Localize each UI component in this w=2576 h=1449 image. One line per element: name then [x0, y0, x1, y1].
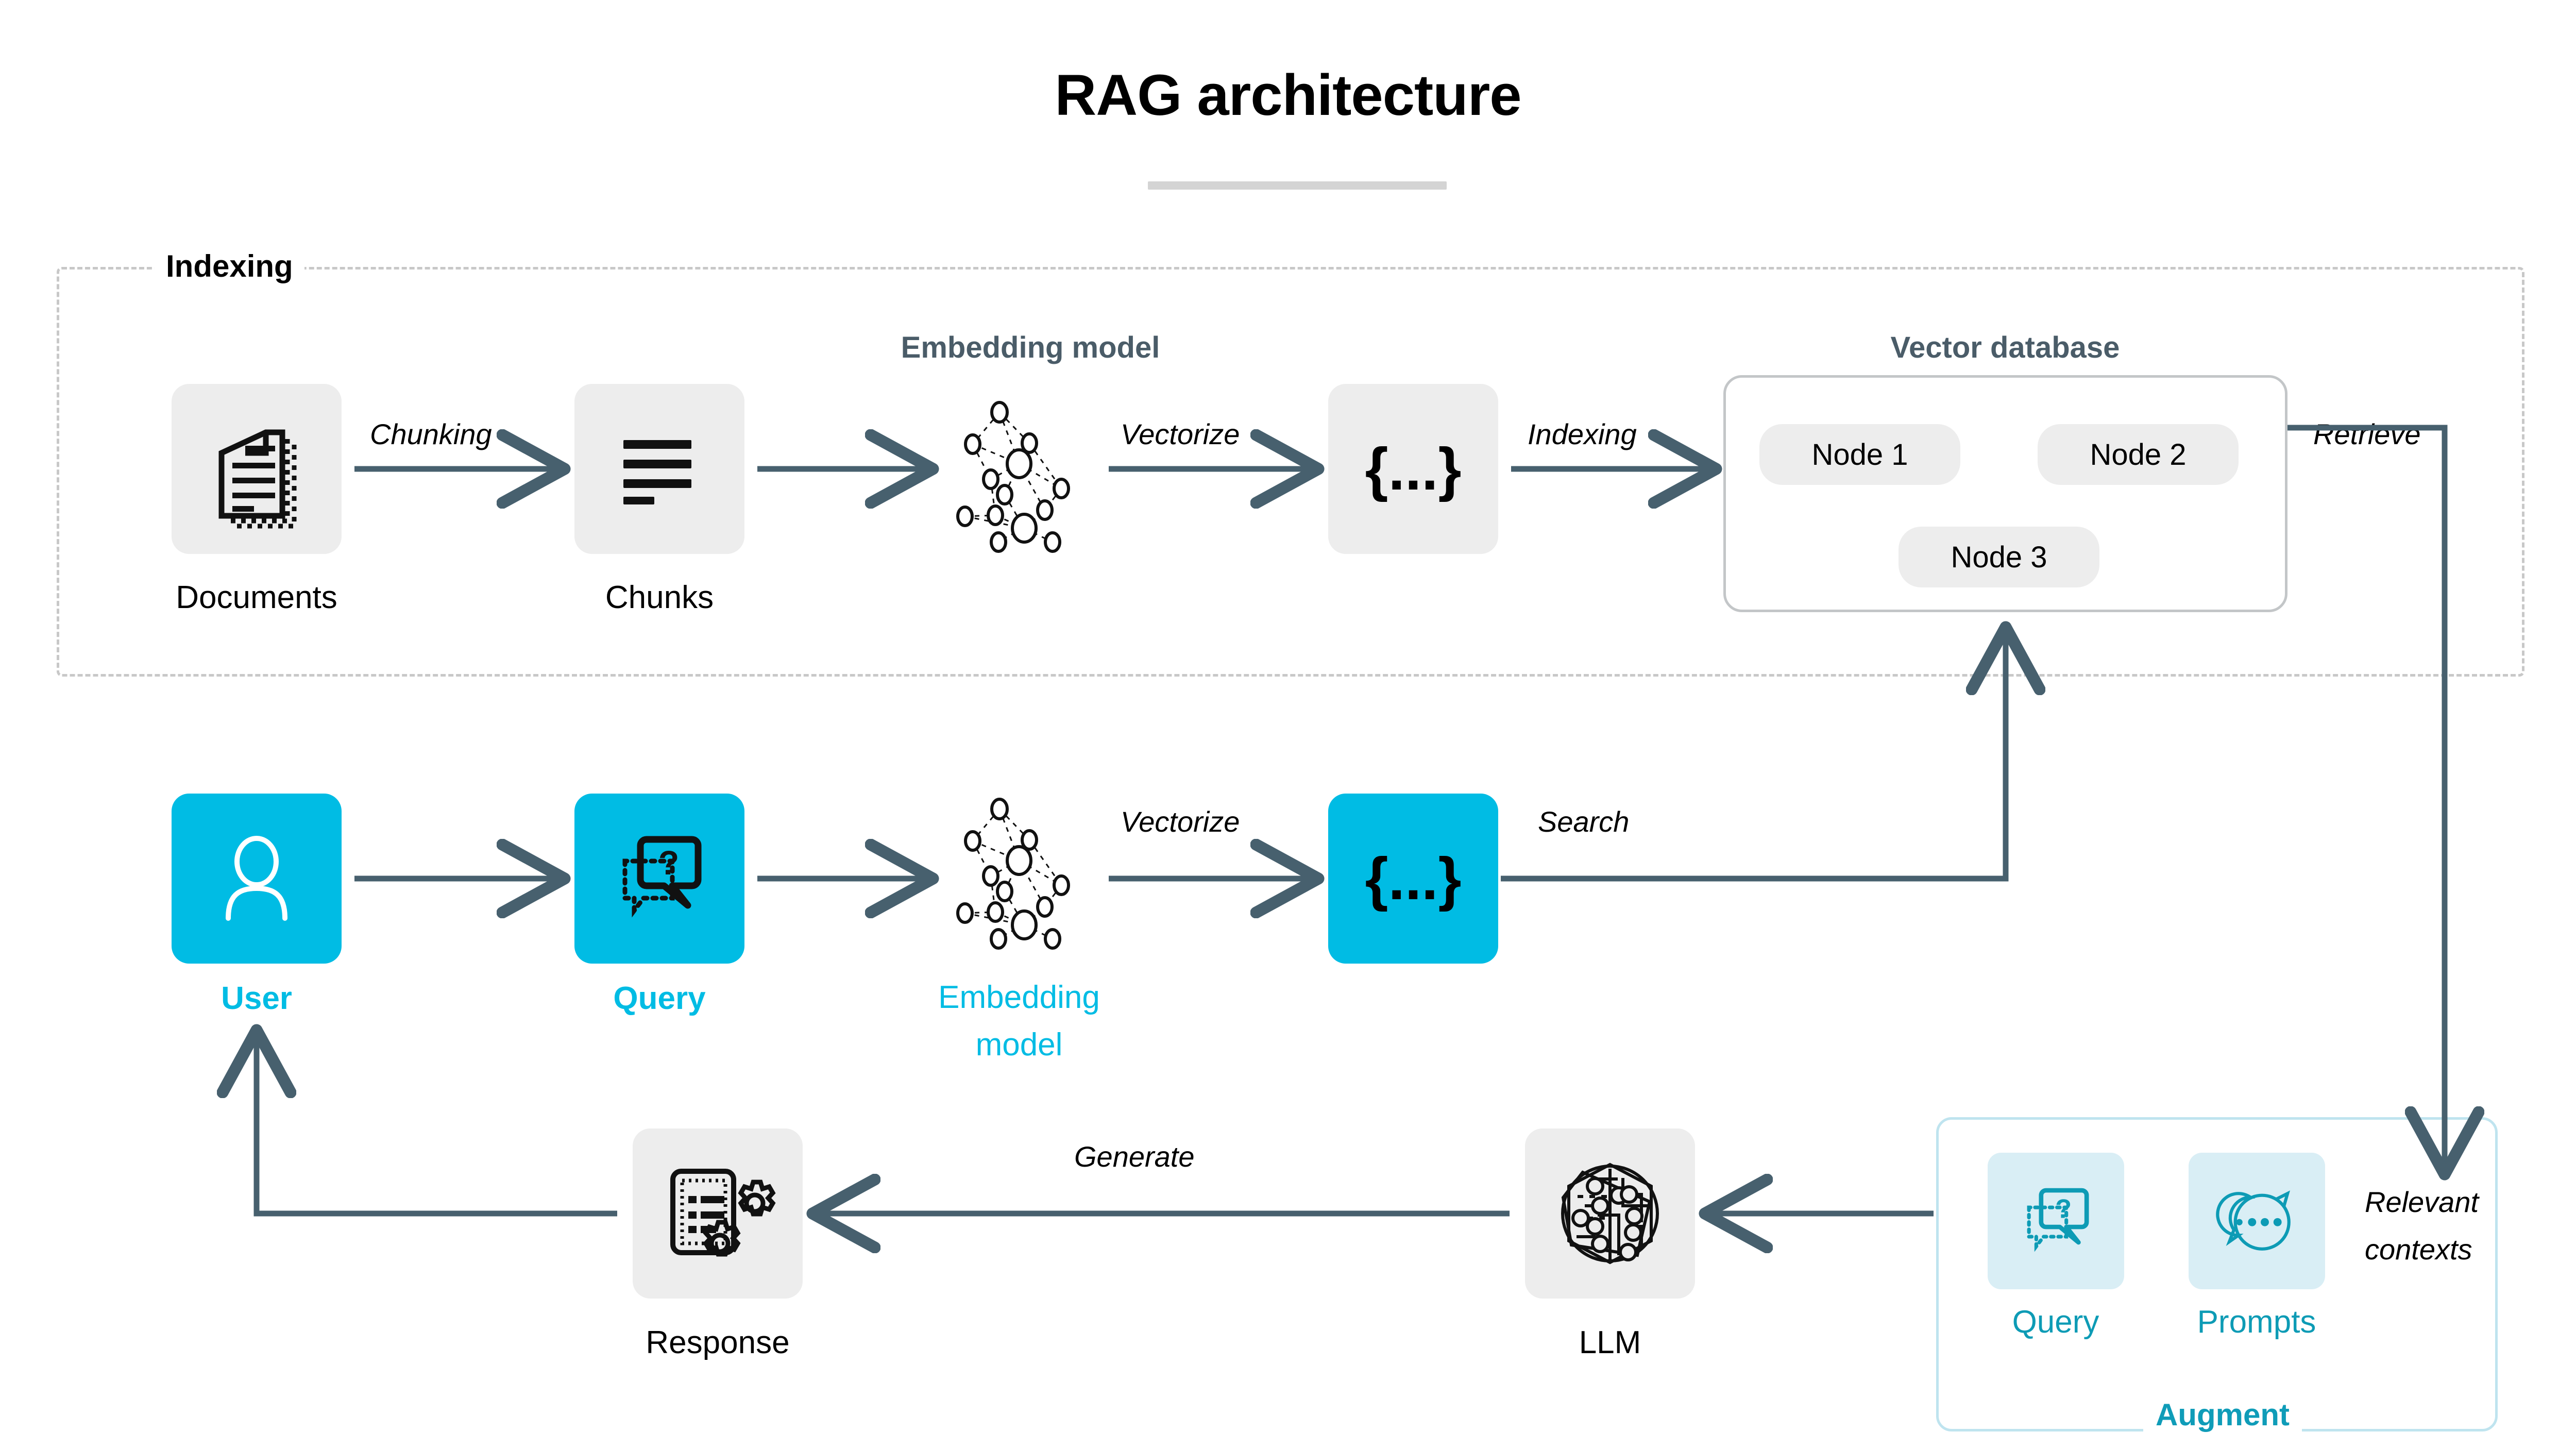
response-tile[interactable]: [633, 1128, 803, 1299]
svg-text:?: ?: [658, 844, 679, 882]
chunks-tile[interactable]: [574, 384, 744, 554]
query-vector-tile[interactable]: {...}: [1328, 794, 1498, 964]
relevant-contexts-label-line1: Relevant: [2365, 1185, 2479, 1219]
user-caption: User: [120, 979, 393, 1018]
documents-icon: [205, 415, 308, 523]
indexing-embedding-model-heading: Embedding model: [840, 330, 1221, 366]
document-gears-icon: [664, 1162, 772, 1265]
llm-tile[interactable]: [1525, 1128, 1695, 1299]
query-bubble-icon: ?: [2018, 1185, 2095, 1258]
braces-icon: {...}: [1365, 439, 1462, 499]
vector-db-node-3[interactable]: Node 3: [1899, 527, 2099, 587]
llm-caption: LLM: [1473, 1323, 1747, 1362]
chunks-icon: [618, 433, 701, 505]
query-tile[interactable]: ?: [574, 794, 744, 964]
user-tile[interactable]: [172, 794, 342, 964]
vector-db-node-1[interactable]: Node 1: [1759, 424, 1960, 485]
braces-icon: {...}: [1365, 849, 1462, 908]
ai-chip-brain-icon: [1551, 1154, 1669, 1273]
augment-box-label: Augment: [2143, 1391, 2302, 1439]
response-caption: Response: [581, 1323, 854, 1362]
augment-query-caption: Query: [1953, 1303, 2159, 1342]
relevant-contexts-label-line2: contexts: [2365, 1233, 2472, 1267]
query-caption: Query: [523, 979, 796, 1018]
arrow-label-vectorize-query: Vectorize: [1121, 805, 1240, 839]
indexing-region-label: Indexing: [155, 243, 304, 290]
documents-caption: Documents: [120, 578, 393, 617]
user-icon: [218, 835, 295, 922]
augment-query-tile[interactable]: ?: [1988, 1153, 2124, 1289]
augment-prompts-tile[interactable]: [2189, 1153, 2325, 1289]
query-neural-network-icon: [942, 794, 1096, 943]
arrow-label-generate: Generate: [1074, 1140, 1195, 1174]
wire-response-to-user: [257, 1036, 617, 1214]
arrow-label-chunking: Chunking: [370, 417, 492, 451]
vector-database-heading: Vector database: [1763, 330, 2247, 366]
indexing-vector-tile[interactable]: {...}: [1328, 384, 1498, 554]
arrow-label-search: Search: [1538, 805, 1629, 839]
query-embedding-model-caption-line2: model: [877, 1021, 1161, 1069]
title-divider: [1148, 181, 1447, 190]
arrow-label-indexing: Indexing: [1528, 417, 1637, 451]
page-title: RAG architecture: [0, 62, 2576, 128]
chat-bubbles-icon: [2218, 1183, 2296, 1260]
chunks-caption: Chunks: [523, 578, 796, 617]
query-bubble-icon: ?: [611, 832, 708, 925]
documents-tile[interactable]: [172, 384, 342, 554]
svg-text:?: ?: [2055, 1194, 2072, 1224]
augment-prompts-caption: Prompts: [2154, 1303, 2360, 1342]
arrow-label-vectorize-index: Vectorize: [1121, 417, 1240, 451]
query-embedding-model-caption-line1: Embedding: [877, 974, 1161, 1021]
indexing-neural-network-icon: [942, 397, 1096, 546]
vector-db-node-2[interactable]: Node 2: [2038, 424, 2239, 485]
arrow-label-retrieve: Retrieve: [2313, 417, 2421, 451]
